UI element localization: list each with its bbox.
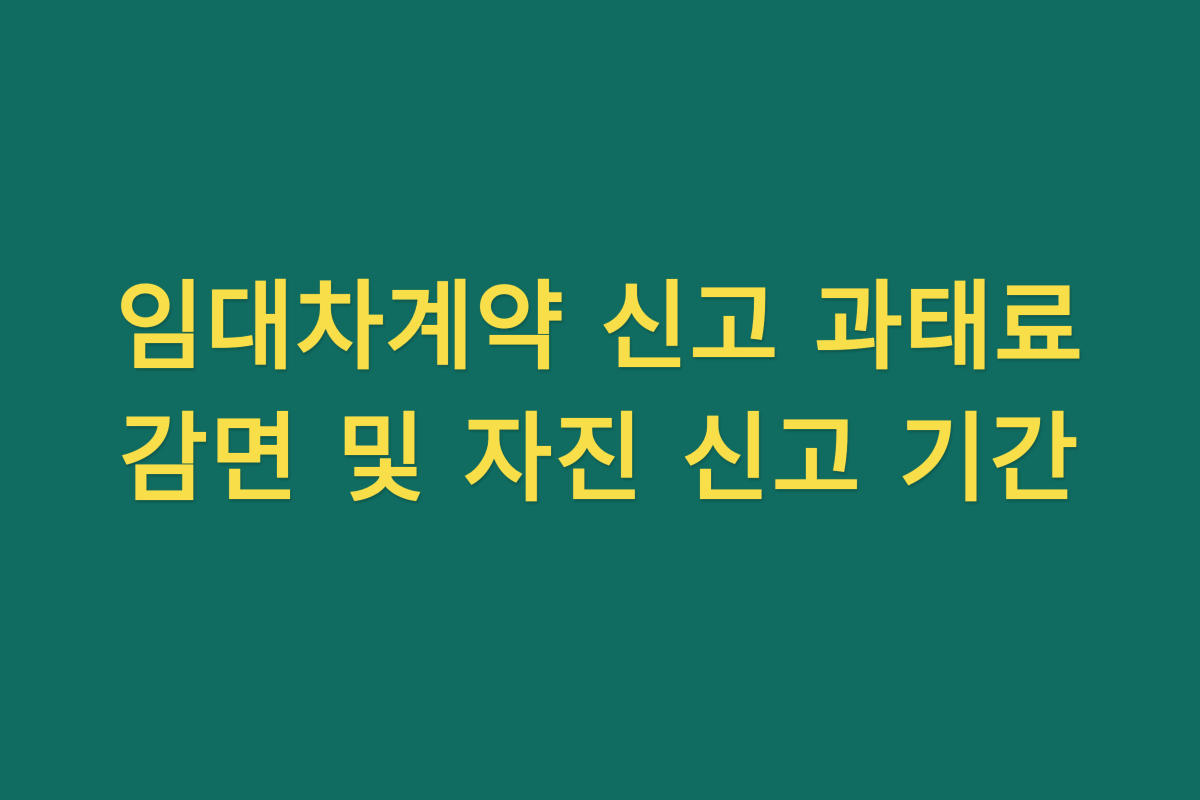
headline-text-block: 임대차계약 신고 과태료 감면 및 자진 신고 기간 bbox=[0, 261, 1200, 526]
headline-line-2: 감면 및 자진 신고 기간 bbox=[0, 393, 1200, 525]
banner-canvas: 임대차계약 신고 과태료 감면 및 자진 신고 기간 bbox=[0, 0, 1200, 800]
headline-line-1: 임대차계약 신고 과태료 bbox=[0, 261, 1200, 393]
